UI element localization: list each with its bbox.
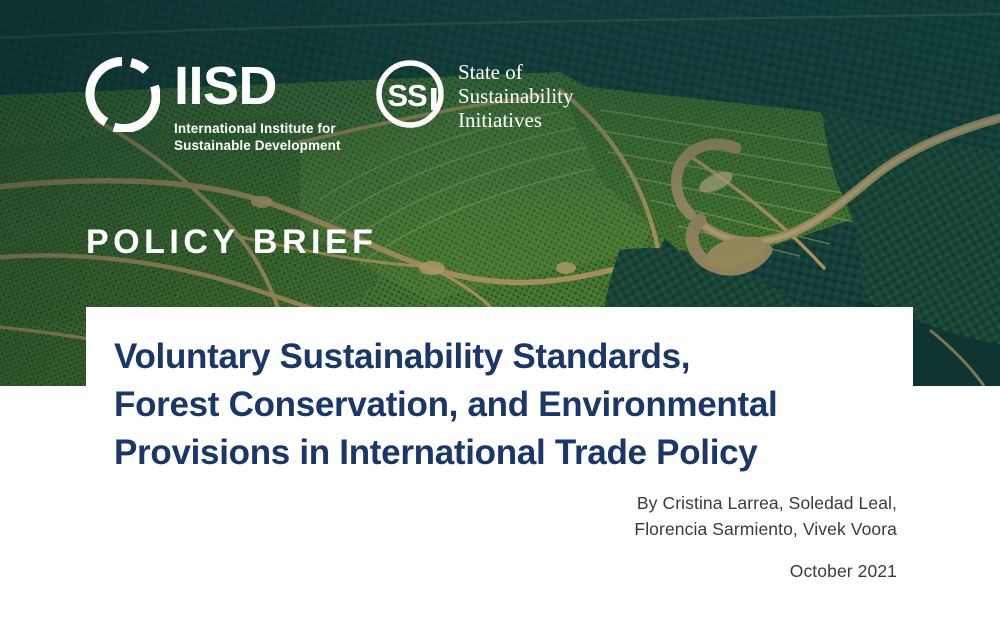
iisd-broken-ring-icon	[84, 56, 160, 132]
iisd-tagline-line-2: Sustainable Development	[174, 137, 341, 154]
title-line-2: Forest Conservation, and Environmental	[114, 381, 883, 429]
ssi-circle-ss-icon: SS	[374, 58, 446, 130]
byline-line-1: By Cristina Larrea, Soledad Leal,	[300, 490, 897, 516]
policy-brief-kicker: POLICY BRIEF	[86, 222, 377, 262]
title-card: Voluntary Sustainability Standards, Fore…	[86, 307, 913, 501]
iisd-tagline-line-1: International Institute for	[174, 120, 341, 137]
publication-date: October 2021	[300, 558, 897, 584]
ssi-name-line-1: State of	[458, 60, 574, 84]
policy-brief-cover-page: IISD International Institute for Sustain…	[0, 0, 1000, 620]
iisd-tagline: International Institute for Sustainable …	[174, 120, 341, 154]
ssi-name-line-2: Sustainability	[458, 84, 574, 108]
title-line-3: Provisions in International Trade Policy	[114, 429, 883, 477]
svg-text:SS: SS	[387, 78, 427, 113]
iisd-logo: IISD International Institute for Sustain…	[84, 56, 341, 154]
byline-block: By Cristina Larrea, Soledad Leal, Floren…	[300, 490, 897, 584]
ssi-logo: SS State of Sustainability Initiatives	[374, 58, 574, 132]
page-title: Voluntary Sustainability Standards, Fore…	[86, 333, 913, 477]
ssi-name-block: State of Sustainability Initiatives	[458, 58, 574, 132]
iisd-wordmark: IISD	[174, 58, 341, 114]
iisd-wordmark-block: IISD International Institute for Sustain…	[174, 56, 341, 154]
ssi-name-line-3: Initiatives	[458, 108, 574, 132]
title-line-1: Voluntary Sustainability Standards,	[114, 333, 883, 381]
byline-line-2: Florencia Sarmiento, Vivek Voora	[300, 516, 897, 542]
